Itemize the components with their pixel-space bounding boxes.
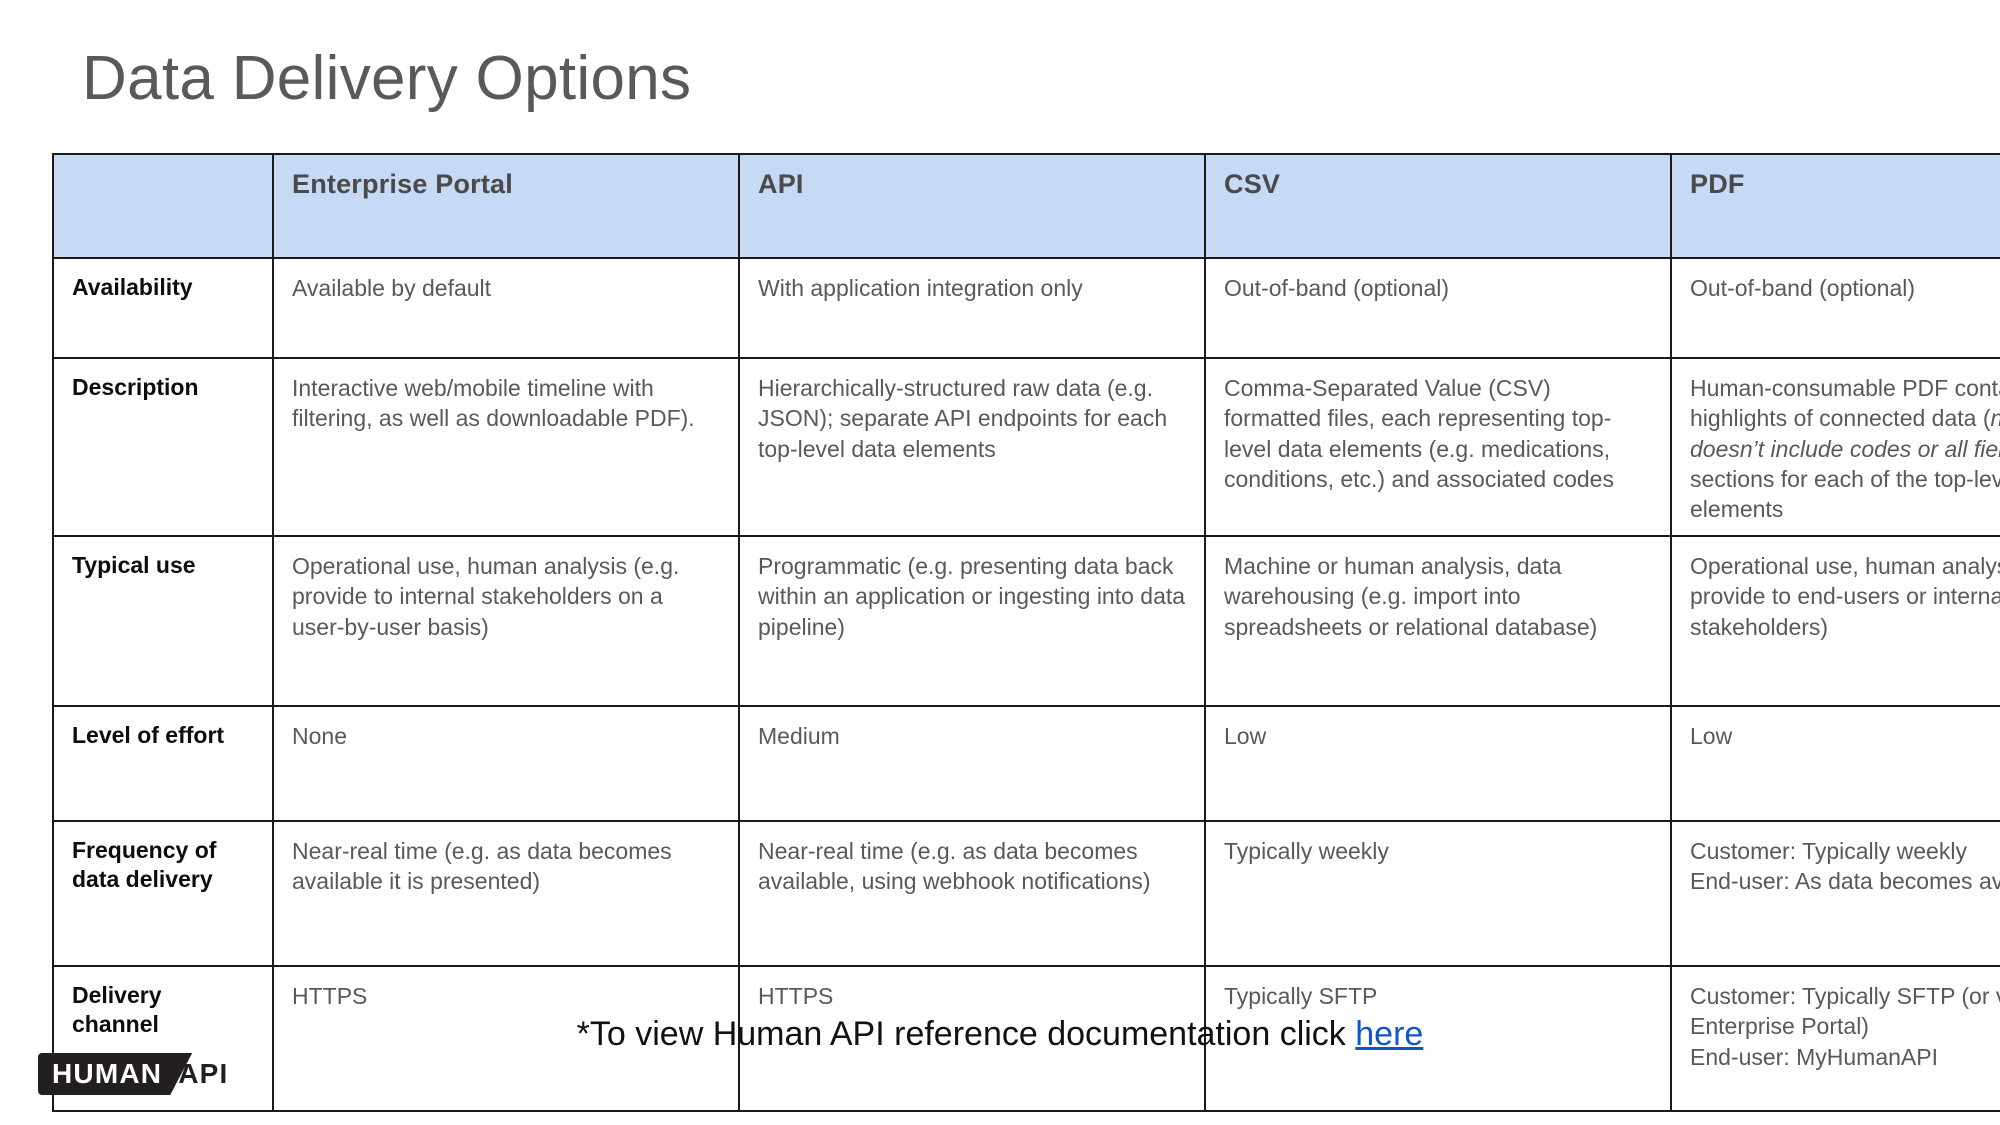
cell-text: Customer: Typically weeklyEnd-user: As d…: [1690, 836, 2000, 897]
column-header-enterprise-portal: Enterprise Portal: [273, 154, 739, 258]
row-label-cell: Level of effort: [53, 706, 273, 821]
table-header-row: Enterprise Portal API CSV PDF: [53, 154, 2000, 258]
column-header-api: API: [739, 154, 1205, 258]
table-row: Description Interactive web/mobile timel…: [53, 358, 2000, 536]
table-cell: Out-of-band (optional): [1671, 258, 2000, 358]
cell-text: Out-of-band (optional): [1224, 273, 1652, 303]
table-cell: Programmatic (e.g. presenting data back …: [739, 536, 1205, 706]
column-header-csv: CSV: [1205, 154, 1671, 258]
cell-text: HTTPS: [758, 981, 1186, 1011]
row-label: Frequency of data delivery: [72, 837, 216, 892]
table-cell: Medium: [739, 706, 1205, 821]
table-row: Frequency of data delivery Near-real tim…: [53, 821, 2000, 966]
cell-text: With application integration only: [758, 273, 1186, 303]
cell-text: Low: [1690, 721, 2000, 751]
table-cell: Low: [1205, 706, 1671, 821]
table-cell: Near-real time (e.g. as data becomes ava…: [273, 821, 739, 966]
cell-text: Operational use, human analysis (e.g. pr…: [1690, 551, 2000, 642]
column-header-pdf-label: PDF: [1690, 169, 1745, 199]
row-label-cell: Availability: [53, 258, 273, 358]
cell-text: Near-real time (e.g. as data becomes ava…: [758, 836, 1186, 897]
cell-text: Interactive web/mobile timeline with fil…: [292, 373, 720, 434]
column-header-blank: [53, 154, 273, 258]
table-cell: Customer: Typically weeklyEnd-user: As d…: [1671, 821, 2000, 966]
logo-badge-human: HUMAN: [38, 1053, 192, 1095]
table-cell: None: [273, 706, 739, 821]
row-label: Typical use: [72, 552, 196, 578]
cell-text: Near-real time (e.g. as data becomes ava…: [292, 836, 720, 897]
cell-text: Low: [1224, 721, 1652, 751]
table-cell: Operational use, human analysis (e.g. pr…: [1671, 536, 2000, 706]
cell-text: Out-of-band (optional): [1690, 273, 2000, 303]
table-cell: Hierarchically-structured raw data (e.g.…: [739, 358, 1205, 536]
table-cell: Interactive web/mobile timeline with fil…: [273, 358, 739, 536]
reference-documentation-link[interactable]: here: [1355, 1015, 1423, 1053]
table-cell: With application integration only: [739, 258, 1205, 358]
cell-text: Typically SFTP: [1224, 981, 1652, 1011]
row-label-cell: Description: [53, 358, 273, 536]
table-cell: Comma-Separated Value (CSV) formatted fi…: [1205, 358, 1671, 536]
cell-text: HTTPS: [292, 981, 720, 1011]
cell-text: Typically weekly: [1224, 836, 1652, 866]
cell-text: Human-consumable PDF containing highligh…: [1690, 375, 2000, 522]
footnote: *To view Human API reference documentati…: [0, 1015, 2000, 1054]
row-label: Availability: [72, 274, 193, 300]
table-row: Availability Available by default With a…: [53, 258, 2000, 358]
table-cell: Available by default: [273, 258, 739, 358]
table-cell: Typically weekly: [1205, 821, 1671, 966]
cell-text: Medium: [758, 721, 1186, 751]
table-header: Enterprise Portal API CSV PDF: [53, 154, 2000, 258]
row-label-cell: Frequency of data delivery: [53, 821, 273, 966]
column-header-api-label: API: [758, 169, 804, 199]
cell-text: Available by default: [292, 273, 720, 303]
cell-text: Programmatic (e.g. presenting data back …: [758, 551, 1186, 642]
column-header-pdf: PDF: [1671, 154, 2000, 258]
table-body: Availability Available by default With a…: [53, 258, 2000, 1111]
data-delivery-options-table: Enterprise Portal API CSV PDF Availabili…: [52, 153, 2000, 1112]
table-row: Typical use Operational use, human analy…: [53, 536, 2000, 706]
table-cell: Machine or human analysis, data warehous…: [1205, 536, 1671, 706]
human-api-logo: HUMAN API: [38, 1053, 229, 1095]
column-header-csv-label: CSV: [1224, 169, 1280, 199]
table-cell: Human-consumable PDF containing highligh…: [1671, 358, 2000, 536]
page-title: Data Delivery Options: [82, 46, 691, 111]
table-cell: Out-of-band (optional): [1205, 258, 1671, 358]
row-label: Level of effort: [72, 722, 224, 748]
row-label-cell: Typical use: [53, 536, 273, 706]
table-cell: Near-real time (e.g. as data becomes ava…: [739, 821, 1205, 966]
cell-text: None: [292, 721, 720, 751]
cell-text: Comma-Separated Value (CSV) formatted fi…: [1224, 373, 1652, 494]
table-cell: Low: [1671, 706, 2000, 821]
table-row: Level of effort None Medium Low Low: [53, 706, 2000, 821]
row-label: Description: [72, 374, 199, 400]
cell-text: Operational use, human analysis (e.g. pr…: [292, 551, 720, 642]
table-cell: Operational use, human analysis (e.g. pr…: [273, 536, 739, 706]
cell-text: Hierarchically-structured raw data (e.g.…: [758, 373, 1186, 464]
cell-text: Machine or human analysis, data warehous…: [1224, 551, 1652, 642]
footnote-text: *To view Human API reference documentati…: [577, 1015, 1356, 1053]
column-header-enterprise-portal-label: Enterprise Portal: [292, 169, 513, 199]
